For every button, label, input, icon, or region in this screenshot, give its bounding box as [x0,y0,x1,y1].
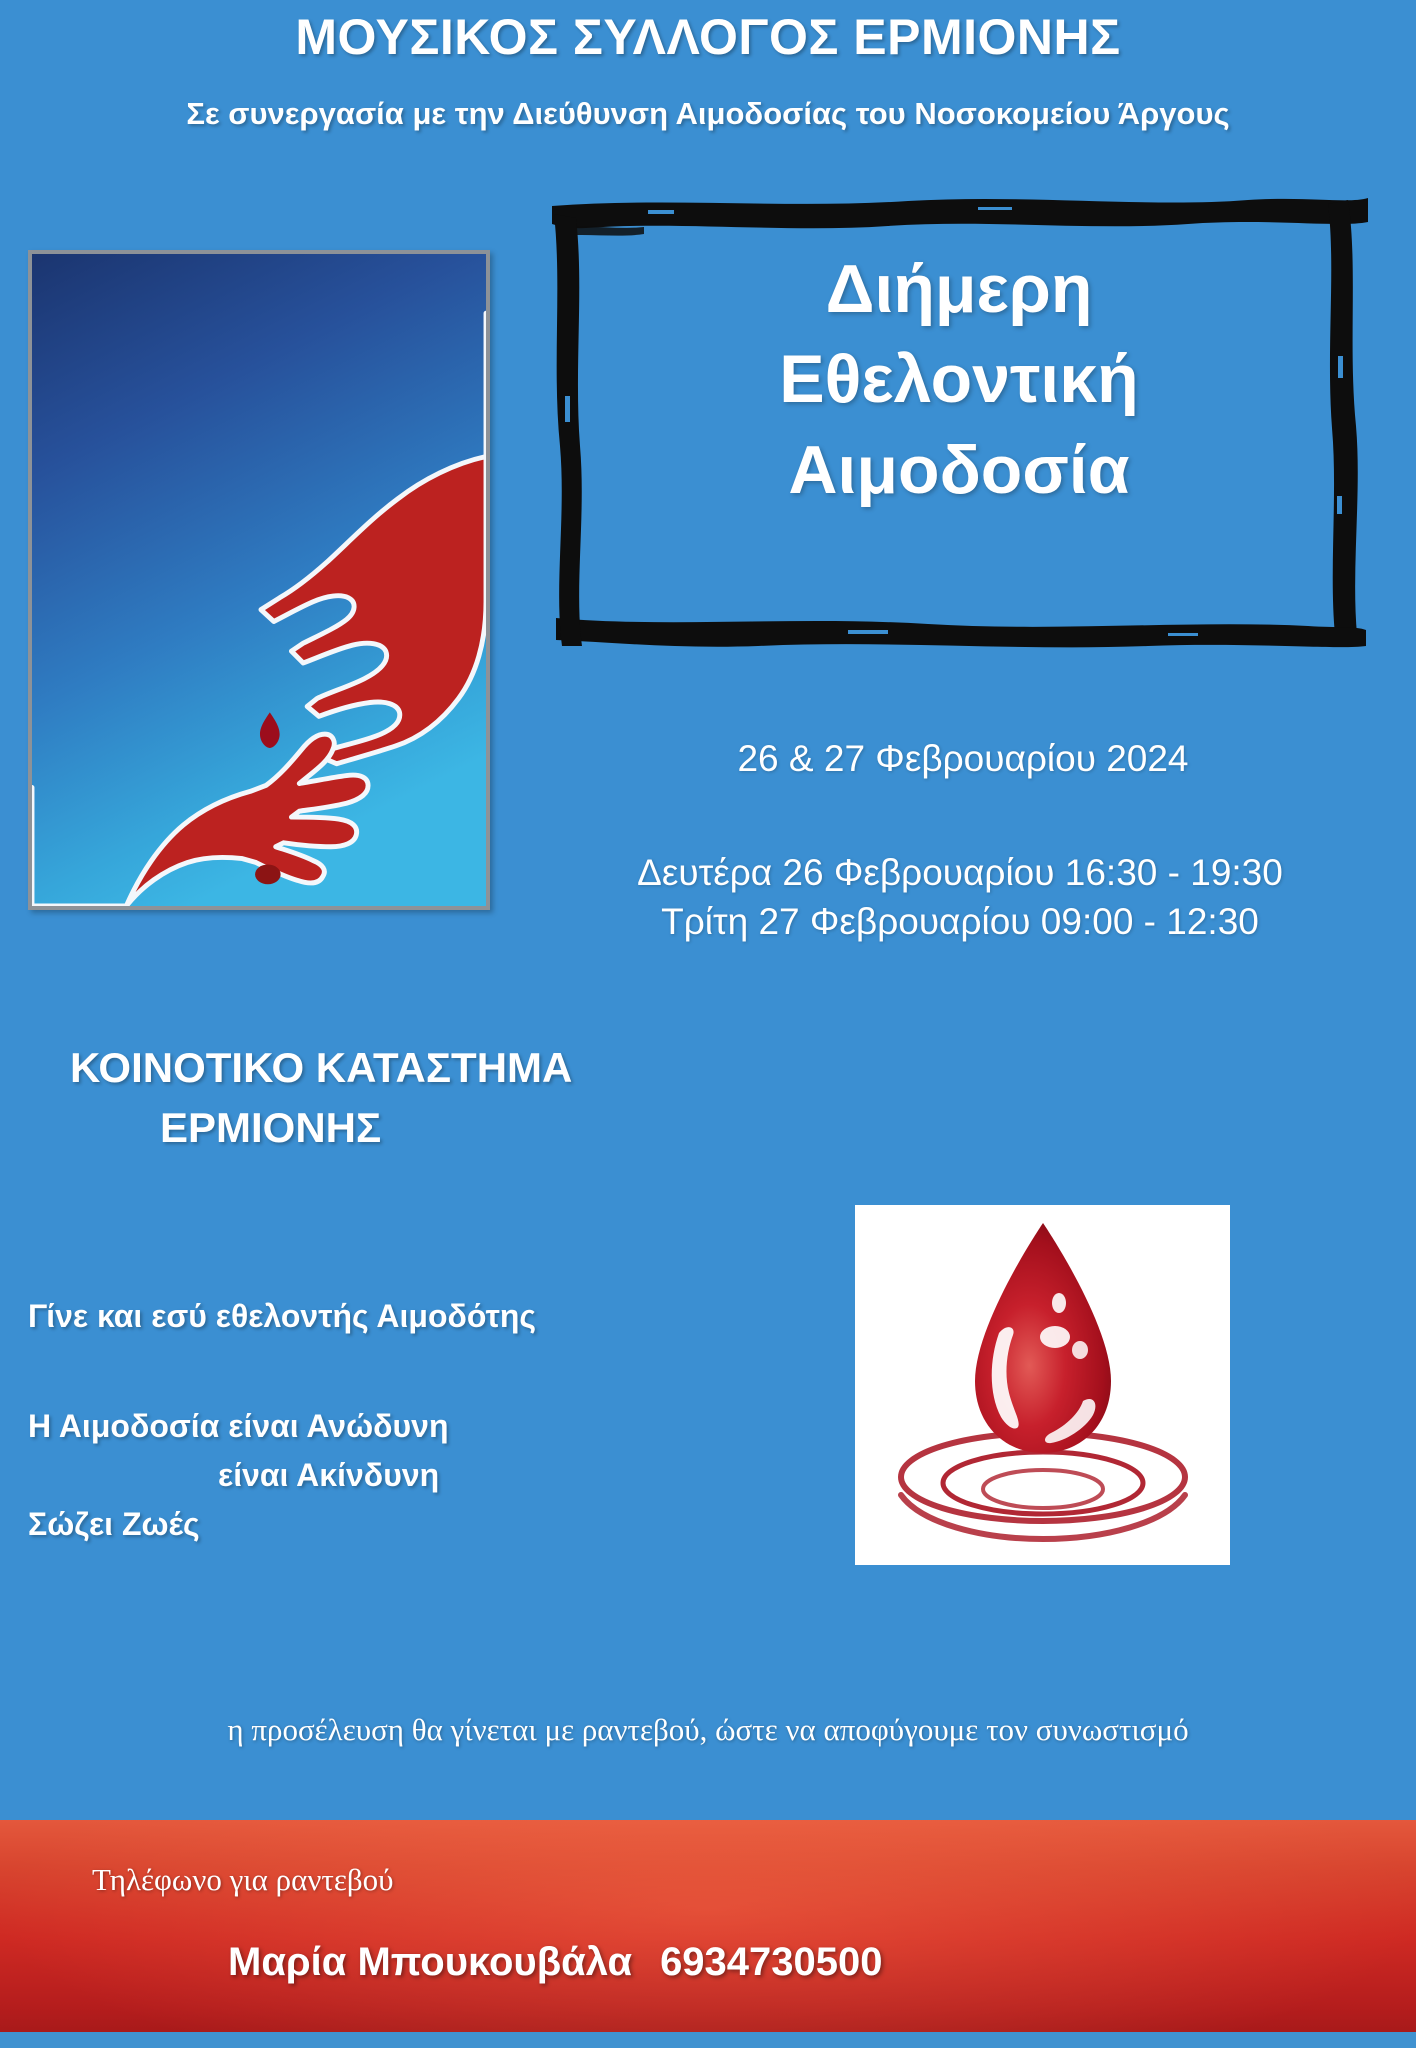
event-title-text: Διήμερη Εθελοντική Αιμοδοσία [548,244,1370,515]
event-title-line-2: Εθελοντική [548,334,1370,424]
event-title-line-1: Διήμερη [548,244,1370,334]
phone-label: Τηλέφωνο για ραντεβού [92,1862,393,1898]
collaboration-subtitle: Σε συνεργασία με την Διεύθυνση Αιμοδοσία… [0,96,1416,132]
bottom-accent-strip [0,2032,1416,2048]
venue-line-1: ΚΟΙΝΟΤΙΚΟ ΚΑΤΑΣΤΗΜΑ [70,1044,572,1091]
hands-illustration [28,250,490,910]
reaching-hands-icon [32,254,486,906]
event-title-frame: Διήμερη Εθελοντική Αιμοδοσία [548,196,1370,648]
slogan-line-2: είναι Ακίνδυνη [28,1451,449,1500]
event-date: 26 & 27 Φεβρουαρίου 2024 [548,738,1378,780]
event-schedule: Δευτέρα 26 Φεβρουαρίου 16:30 - 19:30 Τρί… [520,848,1400,946]
slogan-block: Η Αιμοδοσία είναι Ανώδυνη είναι Ακίνδυνη… [28,1402,449,1549]
contact-line: Μαρία Μπουκουβάλα6934730500 [228,1940,883,1985]
blood-drop-ripple-icon [855,1205,1230,1565]
reflection-ripple-icon [855,1565,1230,1713]
slogan-line-1: Η Αιμοδοσία είναι Ανώδυνη [28,1408,449,1444]
event-title-line-3: Αιμοδοσία [548,425,1370,515]
organization-title: ΜΟΥΣΙΚΟΣ ΣΥΛΛΟΓΟΣ ΕΡΜΙΟΝΗΣ [0,8,1416,66]
venue-block: ΚΟΙΝΟΤΙΚΟ ΚΑΤΑΣΤΗΜΑ ΕΡΜΙΟΝΗΣ [70,1038,572,1157]
contact-footer: Τηλέφωνο για ραντεβού Μαρία Μπουκουβάλα6… [0,1820,1416,2032]
blood-drop-image-card [855,1205,1230,1565]
appointment-note: η προσέλευση θα γίνεται με ραντεβού, ώστ… [0,1712,1416,1748]
schedule-day-1: Δευτέρα 26 Φεβρουαρίου 16:30 - 19:30 [520,848,1400,897]
contact-name: Μαρία Μπουκουβάλα [228,1940,632,1984]
call-to-action-text: Γίνε και εσύ εθελοντής Αιμοδότης [28,1298,536,1335]
schedule-day-2: Τρίτη 27 Φεβρουαρίου 09:00 - 12:30 [520,897,1400,946]
venue-line-2: ΕΡΜΙΟΝΗΣ [70,1098,572,1158]
contact-phone[interactable]: 6934730500 [660,1940,882,1984]
blood-donation-poster: ΜΟΥΣΙΚΟΣ ΣΥΛΛΟΓΟΣ ΕΡΜΙΟΝΗΣ Σε συνεργασία… [0,0,1416,2048]
blood-drop-reflection [855,1565,1230,1713]
slogan-line-3: Σώζει Ζωές [28,1506,200,1542]
